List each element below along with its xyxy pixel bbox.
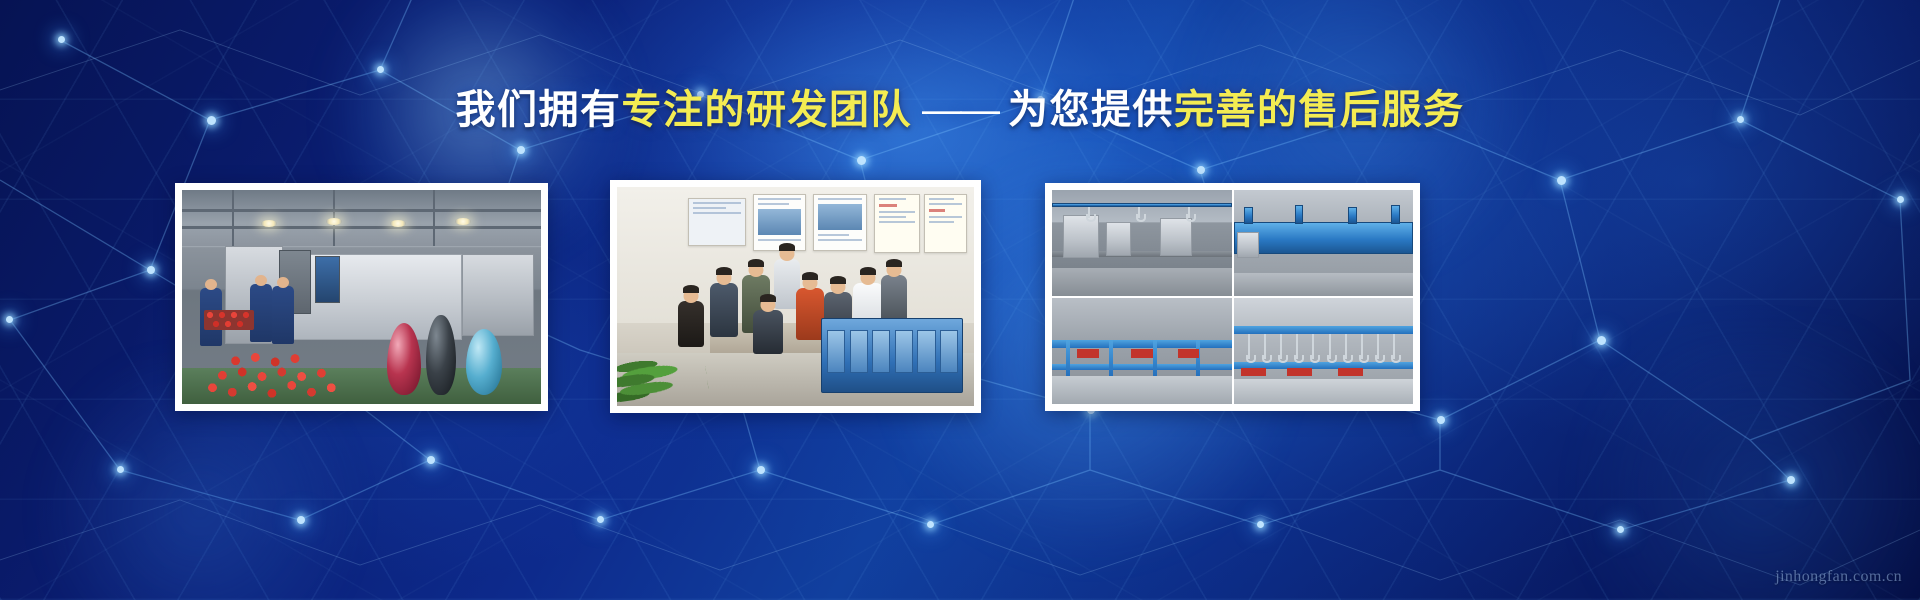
headline-segment-3: 为您提供 (1008, 88, 1174, 132)
ceiling-lamp (390, 220, 406, 227)
attendee-figure (753, 310, 783, 354)
worker-figure (272, 286, 294, 344)
red-product-tray (204, 310, 254, 330)
ceiling-post (433, 190, 435, 246)
light-beam-glow (1560, 330, 1920, 600)
glow-node (427, 456, 435, 464)
certificate-frame (924, 194, 967, 253)
glow-node (147, 266, 155, 274)
headline-segment-2: 专注的研发团队 (622, 88, 913, 132)
headline-segment-1: 我们拥有 (456, 88, 622, 132)
glow-node (1197, 166, 1205, 174)
factory-production-line-image (182, 190, 541, 404)
equipment-model (821, 318, 964, 392)
glow-node (597, 516, 604, 523)
attendee-figure (710, 283, 738, 337)
ceiling-lamp (261, 220, 277, 227)
potted-plant (617, 311, 709, 406)
attendee-figure (796, 288, 824, 340)
glow-node (1257, 521, 1264, 528)
glow-node (1617, 526, 1624, 533)
glow-node (377, 66, 384, 73)
grid-cell-hanging-line (1234, 298, 1414, 404)
vase-product-dark (426, 315, 456, 395)
glow-node (58, 36, 65, 43)
glow-node (1437, 416, 1445, 424)
production-line-photo-card[interactable] (175, 183, 548, 411)
glow-node (297, 516, 305, 524)
wall-poster (753, 194, 807, 251)
photo-frame (617, 187, 974, 406)
vase-product-red (387, 323, 421, 395)
ceiling-beam (182, 209, 541, 212)
ceiling-post (232, 190, 234, 246)
glow-node (757, 466, 765, 474)
wall-whiteboard (688, 198, 745, 246)
glow-node (857, 156, 866, 165)
glow-node (1597, 336, 1606, 345)
glow-node (1787, 476, 1795, 484)
red-product-pile (196, 344, 361, 400)
ceiling-lamp (326, 218, 342, 225)
control-panel (315, 256, 340, 303)
team-meeting-photo-card[interactable] (610, 180, 981, 413)
glow-node (6, 316, 13, 323)
headline-segment-4: 完善的售后服务 (1174, 88, 1465, 132)
machine-unit (462, 254, 534, 335)
certificate-frame (874, 194, 920, 253)
grid-cell-conveyor-line (1052, 298, 1232, 404)
attendee-figure (881, 275, 907, 323)
equipment-grid-photo-card[interactable] (1045, 183, 1420, 411)
equipment-grid-image (1052, 190, 1413, 404)
glow-node (1557, 176, 1566, 185)
ceiling-lamp (455, 218, 471, 225)
grid-cell-factory-hall (1052, 190, 1232, 296)
site-watermark: jinhongfan.com.cn (1775, 568, 1902, 586)
wall-poster (813, 194, 867, 251)
grid-cell-blue-oven (1234, 190, 1414, 296)
promo-banner: 我们拥有专注的研发团队——为您提供完善的售后服务 (0, 0, 1920, 600)
banner-headline: 我们拥有专注的研发团队——为您提供完善的售后服务 (0, 84, 1920, 136)
glow-node (117, 466, 124, 473)
photo-frame (182, 190, 541, 404)
glow-node (1897, 196, 1904, 203)
vase-product-blue (466, 329, 502, 395)
team-meeting-image (617, 187, 974, 406)
glow-node (927, 521, 934, 528)
ceiling-beam (182, 226, 541, 229)
photo-frame (1052, 190, 1413, 404)
headline-dash: —— (912, 88, 1008, 132)
glow-node (517, 146, 525, 154)
ceiling (182, 190, 541, 246)
